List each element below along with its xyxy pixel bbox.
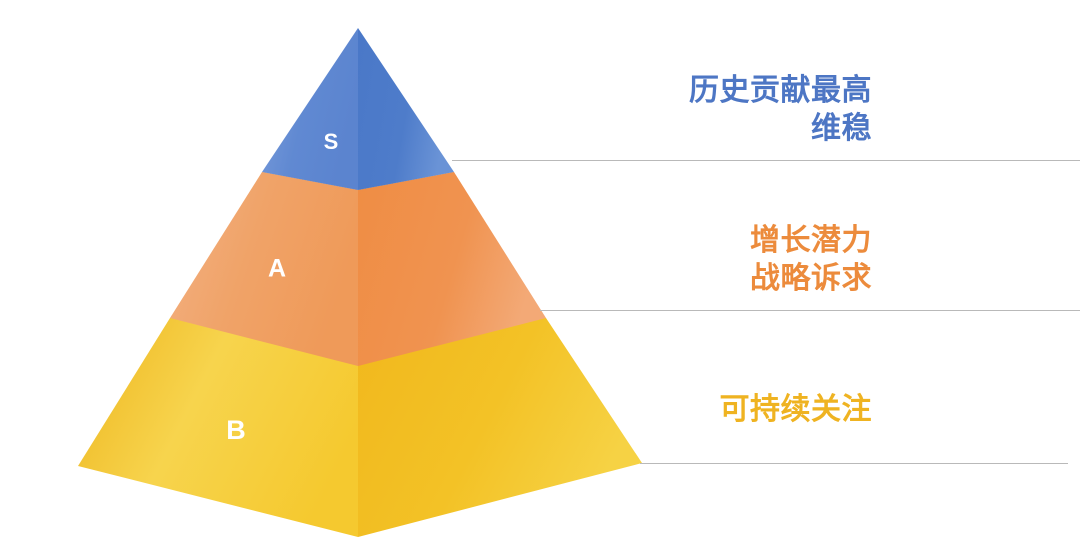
tier-a-letter: A [268, 255, 286, 283]
leader-line-b [640, 463, 1068, 464]
tier-s-left-face [262, 28, 358, 190]
pyramid-diagram-canvas: B A S 历史贡献最高 维稳 增长潜力 战略诉求 [0, 0, 1080, 558]
tier-b-label-line-1: 可持续关注 [720, 391, 873, 429]
tier-s-label-line-2: 维稳 [689, 110, 872, 148]
pyramid-graphic: B A S [0, 0, 1080, 558]
tier-a-label-line-1: 增长潜力 [750, 222, 872, 260]
tier-b-label-block: 可持续关注 [720, 391, 873, 429]
tier-b-letter: B [226, 415, 246, 445]
leader-line-a [540, 310, 1080, 311]
pyramid-tier-s[interactable]: S [262, 28, 454, 190]
tier-s-right-face [358, 28, 454, 190]
tier-s-label-line-1: 历史贡献最高 [689, 72, 872, 110]
tier-s-letter: S [324, 129, 339, 154]
tier-s-label-block: 历史贡献最高 维稳 [689, 72, 872, 149]
tier-a-label-block: 增长潜力 战略诉求 [750, 222, 872, 299]
tier-a-label-line-2: 战略诉求 [750, 260, 872, 298]
leader-line-s [452, 160, 1080, 161]
